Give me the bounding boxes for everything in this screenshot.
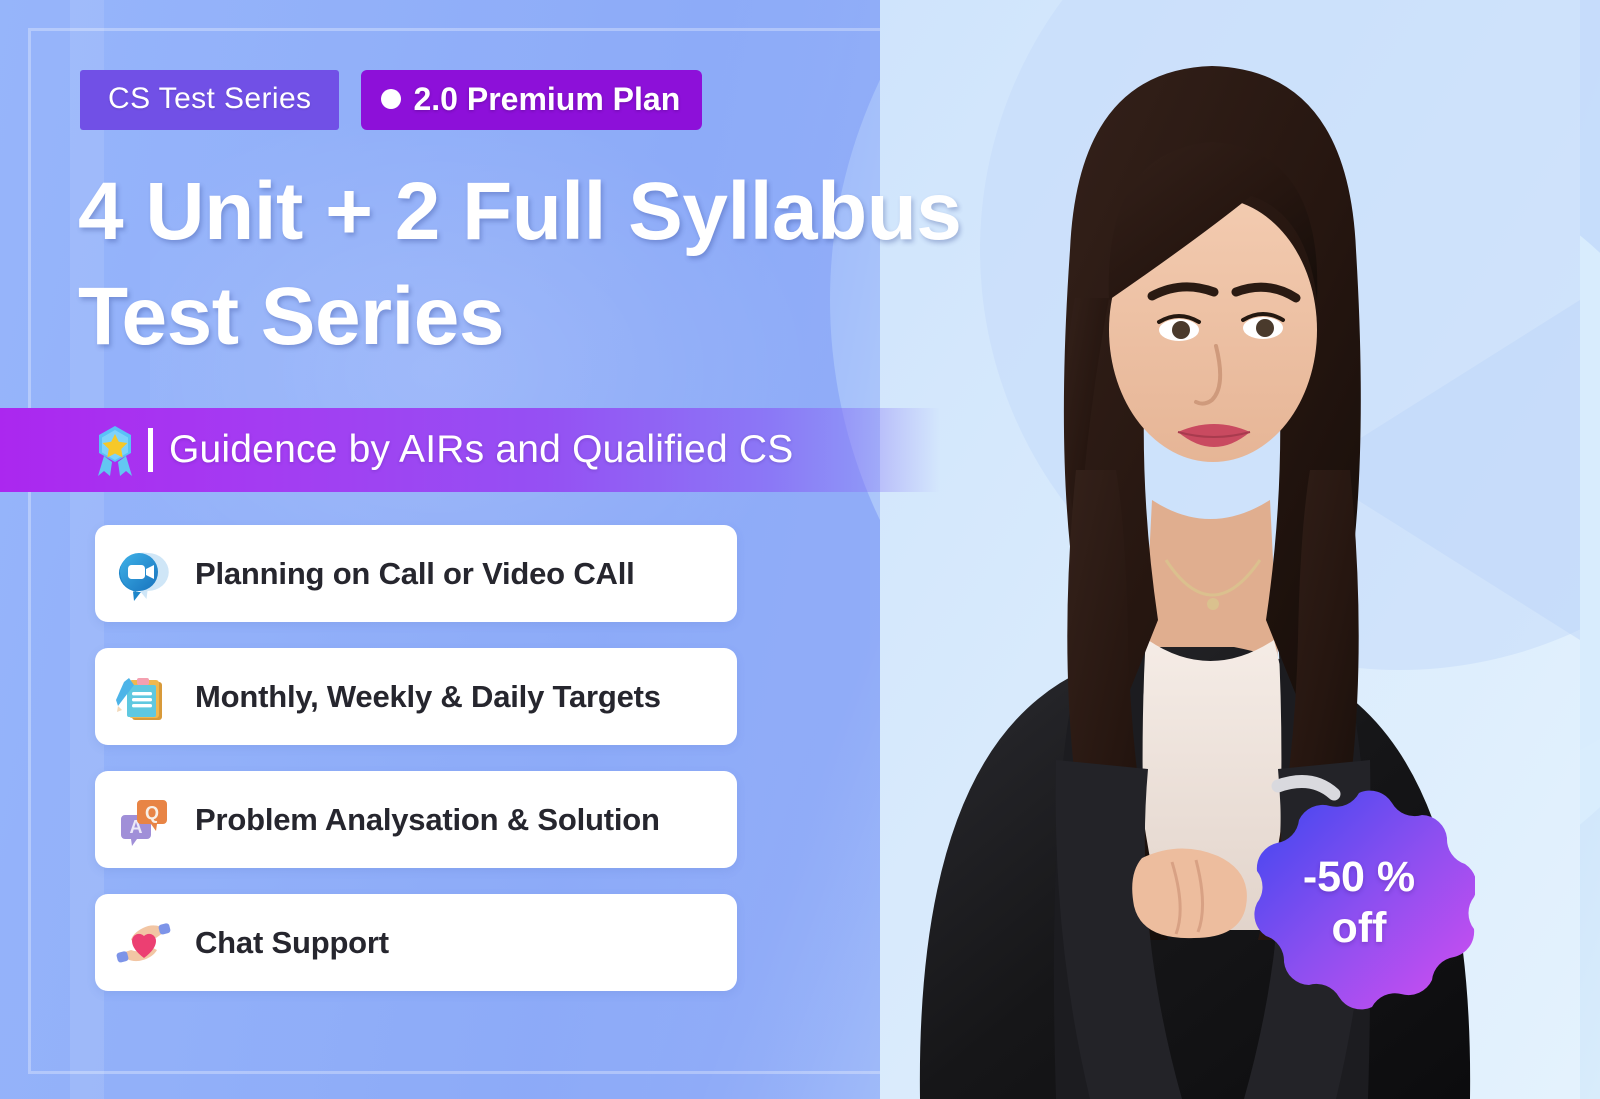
promo-banner: CS Test Series 2.0 Premium Plan 4 Unit +… [0, 0, 1600, 1099]
medal-star-icon [92, 424, 138, 476]
svg-text:Q: Q [145, 803, 159, 823]
headline: 4 Unit + 2 Full Syllabus Test Series [78, 160, 1038, 370]
feature-card[interactable]: Chat Support [95, 894, 737, 991]
bullet-dot-icon [381, 89, 401, 109]
guidance-strip: Guidence by AIRs and Qualified CS [0, 408, 940, 492]
feature-label: Problem Analysation & Solution [195, 804, 660, 835]
feature-card-list: Planning on Call or Video CAll Monthly, … [95, 525, 737, 991]
feature-label: Monthly, Weekly & Daily Targets [195, 681, 661, 712]
premium-plan-label: 2.0 Premium Plan [413, 83, 680, 115]
discount-badge: -50 % off [1243, 787, 1475, 1019]
premium-plan-badge: 2.0 Premium Plan [361, 70, 702, 130]
handshake-heart-icon [113, 912, 175, 974]
feature-card[interactable]: Monthly, Weekly & Daily Targets [95, 648, 737, 745]
feature-card[interactable]: A Q Problem Analysation & Solution [95, 771, 737, 868]
guidance-text: Guidence by AIRs and Qualified CS [169, 428, 793, 472]
divider-bar [148, 428, 153, 472]
feature-label: Chat Support [195, 927, 389, 958]
headline-line-1: 4 Unit + 2 Full Syllabus [78, 166, 961, 257]
qa-bubbles-icon: A Q [113, 789, 175, 851]
headline-line-2: Test Series [78, 265, 1038, 370]
video-call-icon [113, 543, 175, 605]
clipboard-icon [113, 666, 175, 728]
feature-label: Planning on Call or Video CAll [195, 558, 635, 589]
feature-card[interactable]: Planning on Call or Video CAll [95, 525, 737, 622]
badge-row: CS Test Series 2.0 Premium Plan [80, 70, 702, 130]
category-badge: CS Test Series [80, 70, 339, 130]
